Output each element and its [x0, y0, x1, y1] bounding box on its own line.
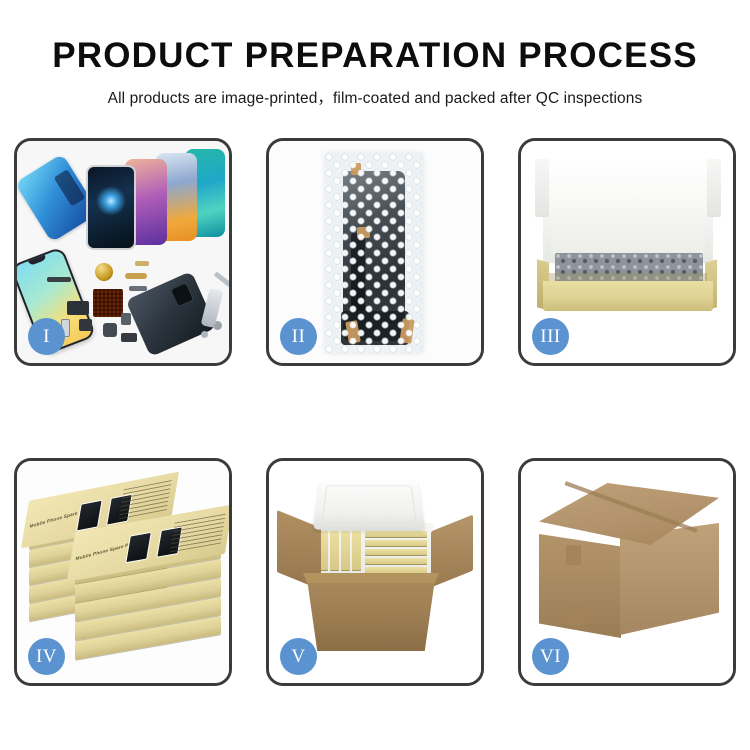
- yellow-box-front-panel: [543, 281, 713, 311]
- component-screwdriver-bit: [214, 271, 229, 287]
- product-preparation-process-page: PRODUCT PREPARATION PROCESS All products…: [0, 0, 750, 750]
- component-flex-gold: [125, 273, 147, 279]
- carton-front-panel: [307, 579, 435, 651]
- step-badge-2: II: [280, 318, 317, 355]
- process-step-card-5: V: [266, 458, 484, 686]
- step-badge-1: I: [28, 318, 65, 355]
- carton-tape-lower: [569, 607, 585, 625]
- packed-box-row-3: [365, 549, 427, 556]
- packed-box-row-2: [365, 540, 427, 547]
- process-step-card-3: III: [518, 138, 736, 366]
- rear-box-product-image-1: [76, 499, 103, 531]
- process-step-card-1: I: [14, 138, 232, 366]
- component-connector-bar: [47, 277, 71, 282]
- packed-box-col-3: [341, 531, 350, 571]
- foam-liner-lid: [313, 480, 425, 530]
- component-camera-module: [121, 333, 137, 342]
- step-badge-4: IV: [28, 638, 65, 675]
- front-box-product-image-1: [125, 532, 152, 564]
- white-foam-backing: [551, 185, 705, 255]
- component-flex-gray: [129, 286, 147, 291]
- packed-box-row-5: [365, 567, 427, 574]
- packed-box-row-4: [365, 558, 427, 565]
- process-step-card-4: Mobile Phone Spare Parts Mobile Phone Sp…: [14, 458, 232, 686]
- packed-box-col-2: [330, 531, 339, 571]
- page-title: PRODUCT PREPARATION PROCESS: [0, 38, 750, 73]
- process-step-grid: I II: [14, 138, 736, 686]
- rear-box-spec-text: [119, 480, 172, 519]
- process-step-card-6: VI: [518, 458, 736, 686]
- page-subtitle: All products are image-printed，film-coat…: [0, 86, 750, 108]
- bubble-wrap-texture: [325, 153, 423, 353]
- component-speaker: [103, 323, 117, 337]
- carton-tape-upper: [566, 545, 581, 565]
- packed-box-col-4: [352, 531, 361, 571]
- component-screw-2: [201, 331, 208, 338]
- gold-coil-component: [95, 263, 113, 281]
- front-box-spec-text: [170, 513, 226, 553]
- packed-box-row-1: [365, 531, 427, 538]
- page-header: PRODUCT PREPARATION PROCESS All products…: [0, 0, 750, 108]
- step-badge-5: V: [280, 638, 317, 675]
- carton-top-lip: [303, 573, 439, 583]
- step-badge-3: III: [532, 318, 569, 355]
- process-step-card-2: II: [266, 138, 484, 366]
- component-button: [121, 313, 131, 325]
- component-chip: [67, 301, 89, 315]
- component-bracket: [79, 319, 92, 331]
- component-copper-board: [93, 289, 123, 317]
- component-antenna: [135, 261, 149, 266]
- step-badge-6: VI: [532, 638, 569, 675]
- phone-screen-black: [86, 165, 136, 250]
- bubble-wrap-bag: [325, 153, 423, 353]
